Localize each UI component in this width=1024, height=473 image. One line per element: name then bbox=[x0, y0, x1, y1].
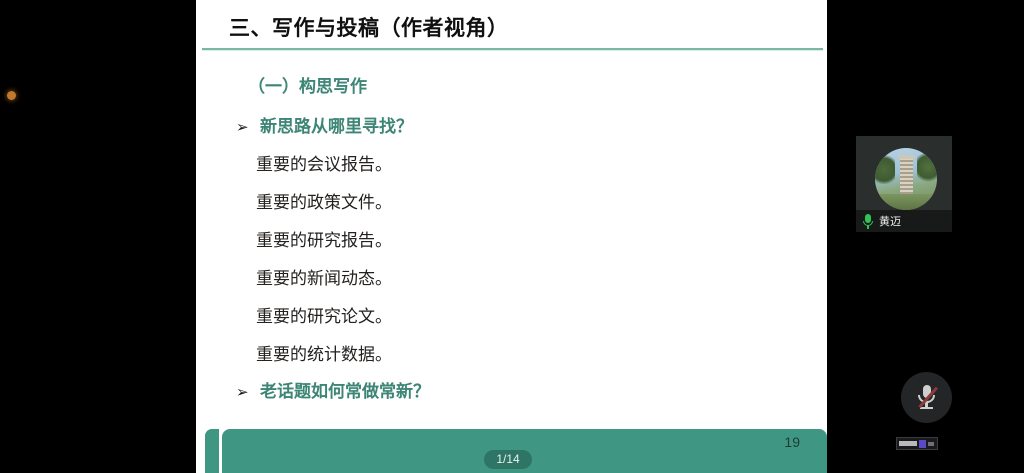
mute-toggle-button[interactable] bbox=[901, 372, 952, 423]
slide-bullet-1-text: 新思路从哪里寻找？ bbox=[260, 117, 413, 137]
slide-body-line-4: 重要的新闻动态。 bbox=[256, 264, 392, 289]
slide-body-line-5: 重要的研究论文。 bbox=[256, 302, 392, 327]
page-indicator[interactable]: 1/14 bbox=[484, 450, 532, 469]
slide-page-number: 19 bbox=[784, 434, 800, 450]
thumbnail-segment-a bbox=[899, 441, 917, 446]
thumbnail-segment-b bbox=[919, 440, 926, 448]
participant-name: 黄迈 bbox=[879, 213, 901, 229]
microphone-on-icon bbox=[863, 214, 873, 229]
avatar-ground bbox=[875, 194, 937, 210]
slide-footer-tab bbox=[205, 429, 219, 473]
shared-slide[interactable]: 三、写作与投稿（作者视角） （一）构思写作 ➢新思路从哪里寻找？ 重要的会议报告… bbox=[196, 0, 827, 473]
slide-body-line-1: 重要的会议报告。 bbox=[256, 150, 392, 175]
avatar-tree-right bbox=[917, 150, 937, 184]
arrow-bullet-icon: ➢ bbox=[236, 383, 260, 401]
participant-video-tile[interactable]: 黄迈 bbox=[856, 136, 952, 232]
slide-title-row: 三、写作与投稿（作者视角） bbox=[196, 12, 827, 48]
avatar bbox=[875, 148, 937, 210]
meeting-screen-share-view: 三、写作与投稿（作者视角） （一）构思写作 ➢新思路从哪里寻找？ 重要的会议报告… bbox=[0, 0, 1024, 473]
slide-title: 三、写作与投稿（作者视角） bbox=[229, 12, 509, 42]
slide-body-line-6: 重要的统计数据。 bbox=[256, 340, 392, 365]
slide-sub-heading: （一）构思写作 bbox=[248, 72, 367, 97]
slide-body-line-3: 重要的研究报告。 bbox=[256, 226, 392, 251]
participant-name-bar: 黄迈 bbox=[856, 210, 952, 232]
avatar-tree-left bbox=[875, 152, 895, 184]
slide-bullet-2: ➢老话题如何常做常新？ bbox=[236, 377, 430, 402]
avatar-tower bbox=[900, 158, 913, 198]
slide-bullet-1: ➢新思路从哪里寻找？ bbox=[236, 112, 413, 137]
slide-bullet-2-text: 老话题如何常做常新？ bbox=[260, 382, 430, 402]
microphone-muted-icon bbox=[917, 385, 936, 410]
recording-dot bbox=[7, 91, 16, 100]
thumbnail-segment-c bbox=[928, 442, 934, 446]
screen-share-thumbnail[interactable] bbox=[896, 437, 938, 450]
title-divider-shadow bbox=[202, 50, 823, 51]
slide-body-line-2: 重要的政策文件。 bbox=[256, 188, 392, 213]
arrow-bullet-icon: ➢ bbox=[236, 118, 260, 136]
